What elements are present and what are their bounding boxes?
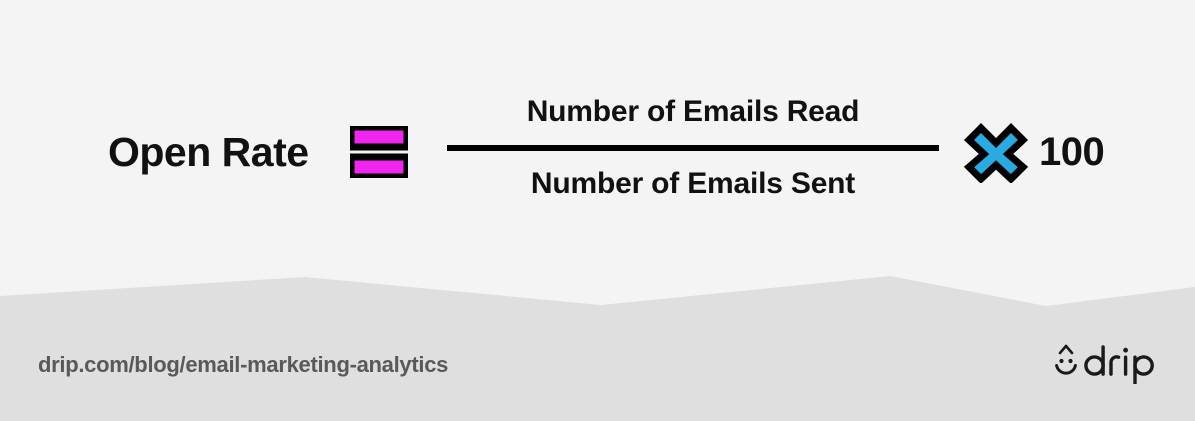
multiply-x-icon: [964, 123, 1028, 183]
open-rate-formula-infographic: Open Rate Number of Emails Read Number o…: [0, 0, 1195, 421]
drip-logo: [1052, 339, 1157, 384]
fraction-block: Number of Emails Read Number of Emails S…: [447, 92, 939, 204]
formula-row: Open Rate Number of Emails Read Number o…: [0, 0, 1195, 270]
formula-label-open-rate: Open Rate: [108, 128, 309, 176]
equals-sign-icon: [350, 126, 408, 178]
fraction-numerator: Number of Emails Read: [447, 92, 939, 132]
wave-shape: [0, 276, 1195, 421]
fraction-denominator: Number of Emails Sent: [447, 164, 939, 204]
drip-wordmark: [1086, 347, 1152, 383]
fraction-bar: [447, 145, 939, 151]
drip-droplet-face-icon: [1057, 346, 1076, 373]
footer-source-url: drip.com/blog/email-marketing-analytics: [38, 352, 448, 378]
formula-multiplier-100: 100: [1039, 129, 1104, 175]
drip-wordmark-i-dot: [1123, 348, 1128, 353]
